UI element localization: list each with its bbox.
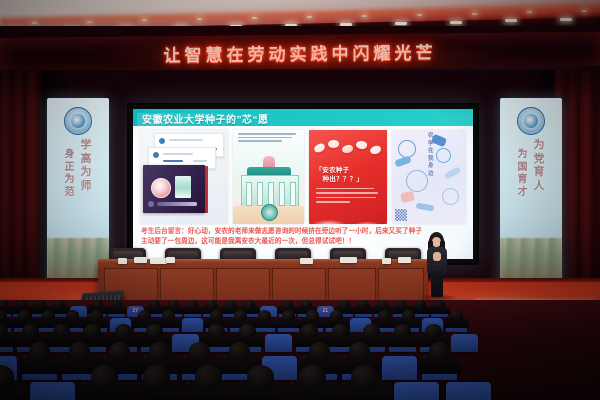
audience-head xyxy=(301,300,312,309)
banner-char: 国 xyxy=(518,163,528,174)
audience-head xyxy=(22,324,39,338)
ceiling-light xyxy=(307,16,312,18)
banner-char: 在 xyxy=(428,149,434,155)
right-vertical-banner: 为国育才 为党育人 xyxy=(500,98,562,290)
audience-head xyxy=(425,324,442,338)
audience-head xyxy=(351,365,379,389)
ribbon-bar xyxy=(157,202,197,206)
qr-code-icon xyxy=(395,209,407,221)
ceiling-light xyxy=(560,18,572,21)
audience-head xyxy=(396,300,407,309)
audience-head xyxy=(434,300,445,309)
stage-curtain-left xyxy=(0,70,44,305)
audience-head xyxy=(363,324,380,338)
banner-char: 身 xyxy=(65,150,75,161)
led-banner-text: 让智慧在劳动实践中闪耀光芒 xyxy=(0,32,600,72)
ceiling-light xyxy=(395,22,407,25)
audience-head xyxy=(247,365,275,389)
led-banner: 让智慧在劳动实践中闪耀光芒 xyxy=(0,32,600,72)
audience-seat xyxy=(451,334,478,352)
panel-admission-letter xyxy=(140,130,228,224)
banner-char: 为 xyxy=(81,167,92,179)
audience-head xyxy=(18,310,31,321)
audience-head xyxy=(69,342,91,361)
audience-head xyxy=(415,300,426,309)
speaker-on-stage xyxy=(424,234,450,298)
audience-head xyxy=(208,324,225,338)
banner-char: 党 xyxy=(534,154,545,166)
audience-head xyxy=(66,310,79,321)
banner-char: 人 xyxy=(534,181,545,193)
audience-head xyxy=(42,310,55,321)
slide-title: 安徽农业大学种子的”芯“愿 xyxy=(142,111,269,126)
medal-icon xyxy=(151,178,171,198)
audience-head xyxy=(244,300,255,309)
audience-head xyxy=(91,365,119,389)
desk-item xyxy=(398,257,411,263)
seat-number: 27 xyxy=(133,308,139,314)
audience-head xyxy=(195,365,223,389)
audience-head xyxy=(149,300,160,309)
audience-head xyxy=(306,310,319,321)
left-banner-column-2: 身正为范 xyxy=(65,150,75,250)
banner-char: 为 xyxy=(534,140,545,152)
banner-char: 学 xyxy=(428,142,434,148)
left-banner-column-1: 学高为师 xyxy=(81,140,92,250)
audience-head xyxy=(35,300,46,309)
poster-cloud-decoration xyxy=(309,214,387,224)
seat-number: 21 xyxy=(323,308,329,314)
banner-char: 为 xyxy=(518,150,528,161)
seed-illustrations xyxy=(314,138,382,162)
seal-icon xyxy=(159,138,165,144)
audience-head xyxy=(187,300,198,309)
auditorium-scene: 让智慧在劳动实践中闪耀光芒 身正为范 学高为师 为国育才 为党育人 安徽农业大学… xyxy=(0,0,600,400)
panel-campus-illustration xyxy=(233,130,305,224)
banner-char: 身 xyxy=(428,164,434,170)
desk-item xyxy=(134,257,147,263)
audience-head xyxy=(92,300,103,309)
audience-head xyxy=(299,365,327,389)
audience-head xyxy=(282,310,295,321)
ceiling-light xyxy=(505,19,517,22)
slide-caption-line-2: 主动要了一包周边，这可能是我离安农大最近的一次，但总得试试吧！！ xyxy=(141,237,465,247)
slide-caption: 考生后台留言：好心动，安农的老师来做志愿咨询的时候挤在旁边听了一小时，后来又买了… xyxy=(141,227,465,247)
banner-char: 正 xyxy=(65,163,75,174)
audience-head xyxy=(225,300,236,309)
ceiling-light xyxy=(362,15,367,17)
audience-head xyxy=(16,300,27,309)
banner-char: 农 xyxy=(428,134,434,140)
banner-char: 才 xyxy=(518,188,528,199)
ceiling-light xyxy=(472,13,477,15)
audience-head xyxy=(301,324,318,338)
audience-seat xyxy=(265,334,292,352)
audience-head xyxy=(330,310,343,321)
audience-seat xyxy=(182,318,203,332)
audience-head xyxy=(210,310,223,321)
panel-sticker-collage: 农学在我身边 xyxy=(392,130,466,224)
audience-head xyxy=(54,300,65,309)
audience-seat xyxy=(394,382,439,400)
poster-headline: 「安农种子 种出？？？」 xyxy=(315,166,385,185)
banner-char: 学 xyxy=(81,140,92,152)
audience-head xyxy=(332,324,349,338)
banner-char: 范 xyxy=(65,188,75,199)
presentation-slide: 安徽农业大学种子的”芯“愿 xyxy=(133,109,473,259)
audience-head xyxy=(84,324,101,338)
audience-head xyxy=(138,310,151,321)
slide-caption-line-1: 考生后台留言：好心动，安农的老师来做志愿咨询的时候挤在旁边听了一小时，后来又买了… xyxy=(141,227,465,237)
ceiling-light xyxy=(87,21,92,23)
seed-card xyxy=(175,176,191,198)
banner-char: 高 xyxy=(81,154,92,166)
presenter-legs xyxy=(431,271,443,297)
audience-head xyxy=(168,300,179,309)
audience-head xyxy=(339,300,350,309)
audience-head xyxy=(162,310,175,321)
audience-head xyxy=(149,342,171,361)
banner-char: 育 xyxy=(518,175,528,186)
panel-vertical-text: 农学在我身边 xyxy=(426,134,435,177)
audience-head xyxy=(378,310,391,321)
poster-body-lines xyxy=(316,188,382,206)
audience-head xyxy=(146,324,163,338)
panel-caption-lines xyxy=(238,133,300,144)
ceiling-light xyxy=(582,10,587,12)
audience-head xyxy=(234,310,247,321)
seal-icon xyxy=(153,152,159,158)
right-banner-column-2: 为国育才 xyxy=(518,150,528,250)
audience-head xyxy=(394,324,411,338)
panel-red-poster: 「安农种子 种出？？？」 xyxy=(309,130,387,224)
audience-head xyxy=(358,300,369,309)
university-seal-icon xyxy=(517,107,545,135)
audience-head xyxy=(309,342,331,361)
audience-head xyxy=(429,342,451,361)
audience-head xyxy=(111,300,122,309)
banner-char: 我 xyxy=(428,157,434,163)
right-banner-column-1: 为党育人 xyxy=(534,140,545,250)
audience-seat xyxy=(446,382,491,400)
audience-head xyxy=(115,324,132,338)
poster-headline-line-1: 「安农种子 xyxy=(315,166,385,175)
slide-panel-row: 「安农种子 种出？？？」 xyxy=(140,130,466,224)
audience-seat xyxy=(382,356,417,380)
desk-item xyxy=(340,257,357,263)
audience-head xyxy=(349,342,371,361)
audience-head xyxy=(258,310,271,321)
audience-head xyxy=(450,310,463,321)
desk-item xyxy=(118,258,127,264)
audience-head xyxy=(239,324,256,338)
audience-head xyxy=(109,342,131,361)
desk-item xyxy=(150,258,167,264)
audience-head xyxy=(206,300,217,309)
ceiling-light xyxy=(32,22,37,24)
audience-head xyxy=(90,310,103,321)
desk-item xyxy=(166,257,175,263)
audience-head xyxy=(402,310,415,321)
audience-area: 222782122278212282122 xyxy=(0,300,600,400)
desk-item xyxy=(382,258,391,264)
badge-dot xyxy=(148,201,154,207)
ceiling-light xyxy=(450,21,462,24)
desk-item xyxy=(300,258,313,264)
banner-char: 边 xyxy=(428,172,434,178)
ceiling-light xyxy=(252,17,257,19)
presenter-hands xyxy=(433,252,441,261)
audience-head xyxy=(189,342,211,361)
audience-seat xyxy=(30,382,75,400)
audience-head xyxy=(229,342,251,361)
banner-char: 师 xyxy=(81,181,92,193)
university-seal-icon xyxy=(64,107,92,135)
banner-char: 育 xyxy=(534,167,545,179)
audience-head xyxy=(29,342,51,361)
banner-char: 为 xyxy=(65,175,75,186)
audience-head xyxy=(143,365,171,389)
gift-box xyxy=(143,165,205,213)
audience-head xyxy=(282,300,293,309)
audience-head xyxy=(53,324,70,338)
audience-head xyxy=(377,300,388,309)
university-emblem-icon xyxy=(261,204,278,221)
poster-headline-line-2: 种出？？？」 xyxy=(315,175,385,184)
ceiling-light xyxy=(417,14,422,16)
